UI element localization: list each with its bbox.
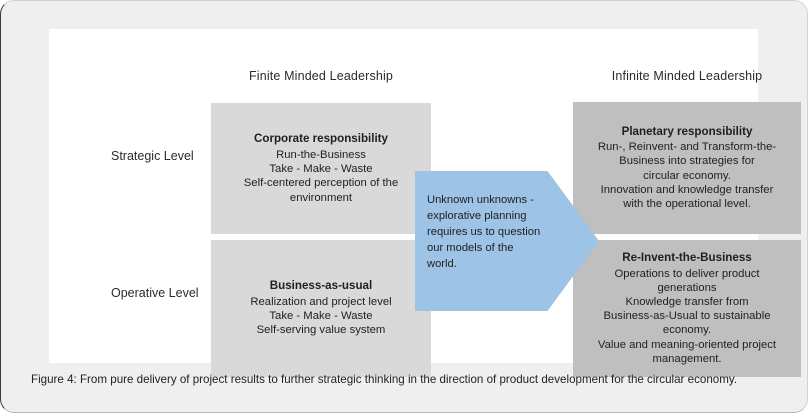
cell-line: Self-centered perception of the [244, 176, 399, 190]
unknown-unknowns-arrow: Unknown unknowns - explorative planning … [415, 171, 599, 311]
column-header-finite-minded-leadership: Finite Minded Leadership [211, 69, 431, 83]
cell-title: Corporate responsibility [254, 132, 388, 147]
cell-line: Run-, Reinvent- and Transform-the- [598, 140, 776, 154]
cell-title: Planetary responsibility [622, 125, 753, 140]
cell-line: Self-serving value system [257, 323, 386, 337]
cell-line: economy. [663, 323, 711, 337]
cell-line: Knowledge transfer from [625, 295, 748, 309]
cell-line: Take - Make - Waste [269, 309, 372, 323]
column-header-infinite-minded-leadership: Infinite Minded Leadership [573, 69, 801, 83]
cell-corporate-responsibility: Corporate responsibility Run-the-Busines… [211, 103, 431, 234]
cell-line: Operations to deliver product [614, 267, 759, 281]
cell-line: Business-as-Usual to sustainable [603, 309, 770, 323]
row-label-operative-level: Operative Level [111, 286, 199, 300]
cell-line: environment [290, 191, 352, 205]
cell-line: circular economy. [643, 169, 731, 183]
figure-caption: Figure 4: From pure delivery of project … [31, 373, 791, 386]
cell-title: Re-Invent-the-Business [622, 251, 751, 266]
row-label-strategic-level: Strategic Level [111, 149, 194, 163]
cell-line: Innovation and knowledge transfer [601, 183, 774, 197]
arrow-line: requires us to question [427, 225, 587, 241]
cell-title: Business-as-usual [270, 279, 372, 294]
arrow-line: our models of the [427, 241, 587, 257]
arrow-line: world. [427, 257, 587, 273]
figure-frame: Finite Minded Leadership Infinite Minded… [0, 0, 808, 413]
cell-line: generations [657, 281, 716, 295]
cell-line: management. [652, 352, 721, 366]
diagram-panel: Finite Minded Leadership Infinite Minded… [49, 29, 758, 363]
arrow-line: Unknown unknowns - [427, 193, 587, 209]
cell-line: Run-the-Business [276, 148, 366, 162]
cell-line: Value and meaning-oriented project [598, 338, 776, 352]
cell-re-invent-the-business: Re-Invent-the-Business Operations to del… [573, 240, 801, 377]
cell-planetary-responsibility: Planetary responsibility Run-, Reinvent-… [573, 102, 801, 234]
arrow-line: explorative planning [427, 209, 587, 225]
cell-line: Realization and project level [250, 295, 391, 309]
cell-line: Business into strategies for [619, 154, 755, 168]
cell-line: with the operational level. [623, 197, 750, 211]
cell-line: Take - Make - Waste [269, 162, 372, 176]
cell-business-as-usual: Business-as-usual Realization and projec… [211, 240, 431, 377]
